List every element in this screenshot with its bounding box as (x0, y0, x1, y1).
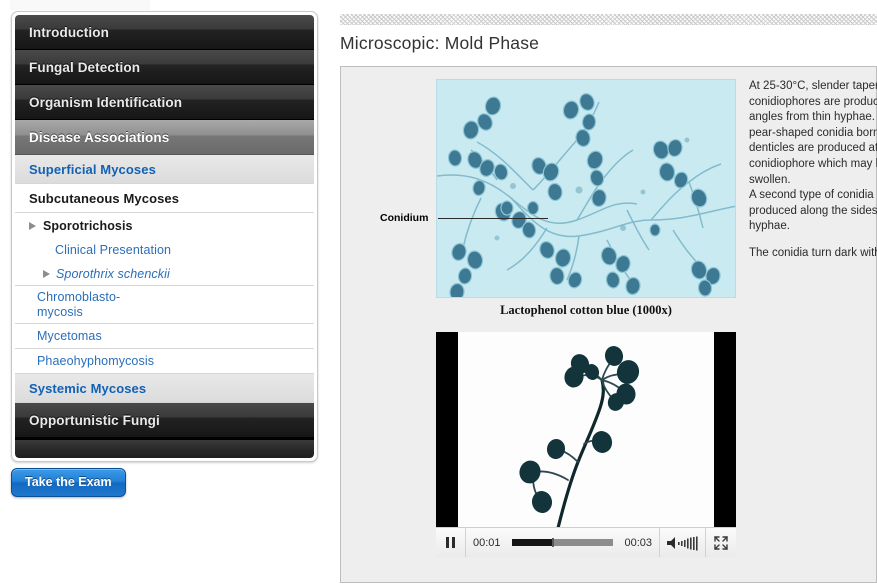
duration-time: 00:03 (617, 528, 660, 557)
video-controls: 00:01 00:03 (436, 527, 736, 557)
micrograph-svg (437, 80, 736, 298)
sidebar-item-label: Phaeohyphomycosis (37, 354, 154, 368)
sidebar-item-organism-identification[interactable]: Organism Identification (15, 85, 314, 120)
pause-icon (446, 537, 455, 548)
sidebar-footer-cap (15, 438, 314, 458)
micrograph-caption: Lactophenol cotton blue (1000x) (436, 303, 736, 318)
sidebar-item-label: Clinical Presentation (55, 243, 171, 257)
desc-line: hyphae. (749, 220, 790, 232)
current-time: 00:01 (466, 528, 508, 557)
desc-line: pear-shaped conidia borne on (749, 127, 877, 139)
sidebar: Introduction Fungal Detection Organism I… (11, 11, 318, 462)
sidebar-item-introduction[interactable]: Introduction (15, 15, 314, 50)
sidebar-item-mycetomas[interactable]: Mycetomas (15, 324, 314, 349)
description-paragraph-3: The conidia turn dark with age. (749, 246, 877, 262)
sidebar-item-subcutaneous-mycoses[interactable]: Subcutaneous Mycoses (15, 184, 314, 213)
sidebar-item-sporothrix-schenckii[interactable]: Sporothrix schenckii (15, 262, 314, 286)
sidebar-item-systemic-mycoses[interactable]: Systemic Mycoses (15, 374, 314, 403)
content-area: Microscopic: Mold Phase (340, 0, 877, 588)
seek-bar[interactable] (512, 539, 614, 546)
expand-triangle-icon (43, 270, 50, 278)
desc-line: A second type of conidia may be (749, 189, 877, 201)
content-panel: Conidium Lactophenol cotton blue (1000x) (340, 66, 877, 583)
sidebar-item-phaeohyphomycosis[interactable]: Phaeohyphomycosis (15, 349, 314, 374)
sidebar-item-chromoblastomycosis[interactable]: Chromoblasto- mycosis (15, 286, 314, 324)
annotation-leader-line (438, 218, 548, 219)
sidebar-item-label: Introduction (29, 25, 109, 40)
chromo-line-1: Chromoblasto- (37, 290, 120, 304)
sidebar-item-label: Chromoblasto- mycosis (37, 290, 120, 319)
description-paragraph-1: At 25-30°C, slender tapering conidiophor… (749, 79, 877, 235)
video-frame-svg (436, 332, 736, 528)
letterbox-bar-right (714, 332, 736, 528)
fullscreen-icon (713, 535, 729, 551)
desc-line: conidiophore which may be slightly (749, 158, 877, 170)
pause-button[interactable] (436, 528, 466, 557)
seek-handle[interactable] (552, 538, 554, 547)
desc-line: conidiophores are produced at right (749, 96, 877, 108)
hatched-divider (340, 14, 877, 25)
sidebar-item-label: Organism Identification (29, 95, 182, 110)
letterbox-bar-left (436, 332, 458, 528)
desc-line: The conidia turn dark with age. (749, 247, 877, 259)
sidebar-item-label: Subcutaneous Mycoses (29, 191, 179, 206)
app-root: Introduction Fungal Detection Organism I… (0, 0, 877, 588)
desc-line: produced along the sides of the (749, 205, 877, 217)
sidebar-item-label: Superficial Mycoses (29, 162, 156, 177)
micrograph-block: Conidium Lactophenol cotton blue (1000x) (436, 79, 736, 318)
sidebar-item-clinical-presentation[interactable]: Clinical Presentation (15, 238, 314, 262)
sidebar-nav: Introduction Fungal Detection Organism I… (15, 15, 314, 458)
page-title: Microscopic: Mold Phase (340, 33, 539, 54)
sidebar-item-label: Sporotrichosis (43, 219, 133, 233)
conidium-annotation-label: Conidium (380, 212, 428, 224)
sidebar-item-label: Systemic Mycoses (29, 381, 146, 396)
desc-line: At 25-30°C, slender tapering (749, 80, 877, 92)
chromo-line-2: mycosis (37, 305, 83, 319)
desc-line: swollen. (749, 174, 791, 186)
sidebar-item-fungal-detection[interactable]: Fungal Detection (15, 50, 314, 85)
sidebar-item-opportunistic-fungi[interactable]: Opportunistic Fungi (15, 403, 314, 438)
sidebar-item-label: Fungal Detection (29, 60, 140, 75)
sidebar-item-label: Opportunistic Fungi (29, 413, 160, 428)
sidebar-item-label: Sporothrix schenckii (56, 267, 170, 281)
sidebar-item-label: Mycetomas (37, 329, 102, 343)
sidebar-item-superficial-mycoses[interactable]: Superficial Mycoses (15, 155, 314, 184)
sidebar-item-label: Disease Associations (29, 130, 169, 145)
desc-line: denticles are produced at the tip of the (749, 142, 877, 154)
video-stage[interactable] (436, 332, 736, 528)
seek-played (512, 539, 553, 546)
take-the-exam-button[interactable]: Take the Exam (11, 468, 126, 497)
micrograph-image (436, 79, 736, 298)
sidebar-item-disease-associations[interactable]: Disease Associations (15, 120, 314, 155)
expand-triangle-icon (29, 222, 36, 230)
take-the-exam-label: Take the Exam (25, 475, 112, 489)
volume-icon (665, 535, 701, 551)
video-player[interactable]: 00:01 00:03 (436, 332, 736, 557)
description-text: At 25-30°C, slender tapering conidiophor… (749, 79, 877, 262)
fullscreen-button[interactable] (706, 528, 736, 557)
desc-line: angles from thin hyphae. Oval or (749, 111, 877, 123)
top-edge-artifact (0, 0, 330, 10)
volume-control[interactable] (660, 528, 706, 557)
sidebar-item-sporotrichosis[interactable]: Sporotrichosis (15, 213, 314, 238)
